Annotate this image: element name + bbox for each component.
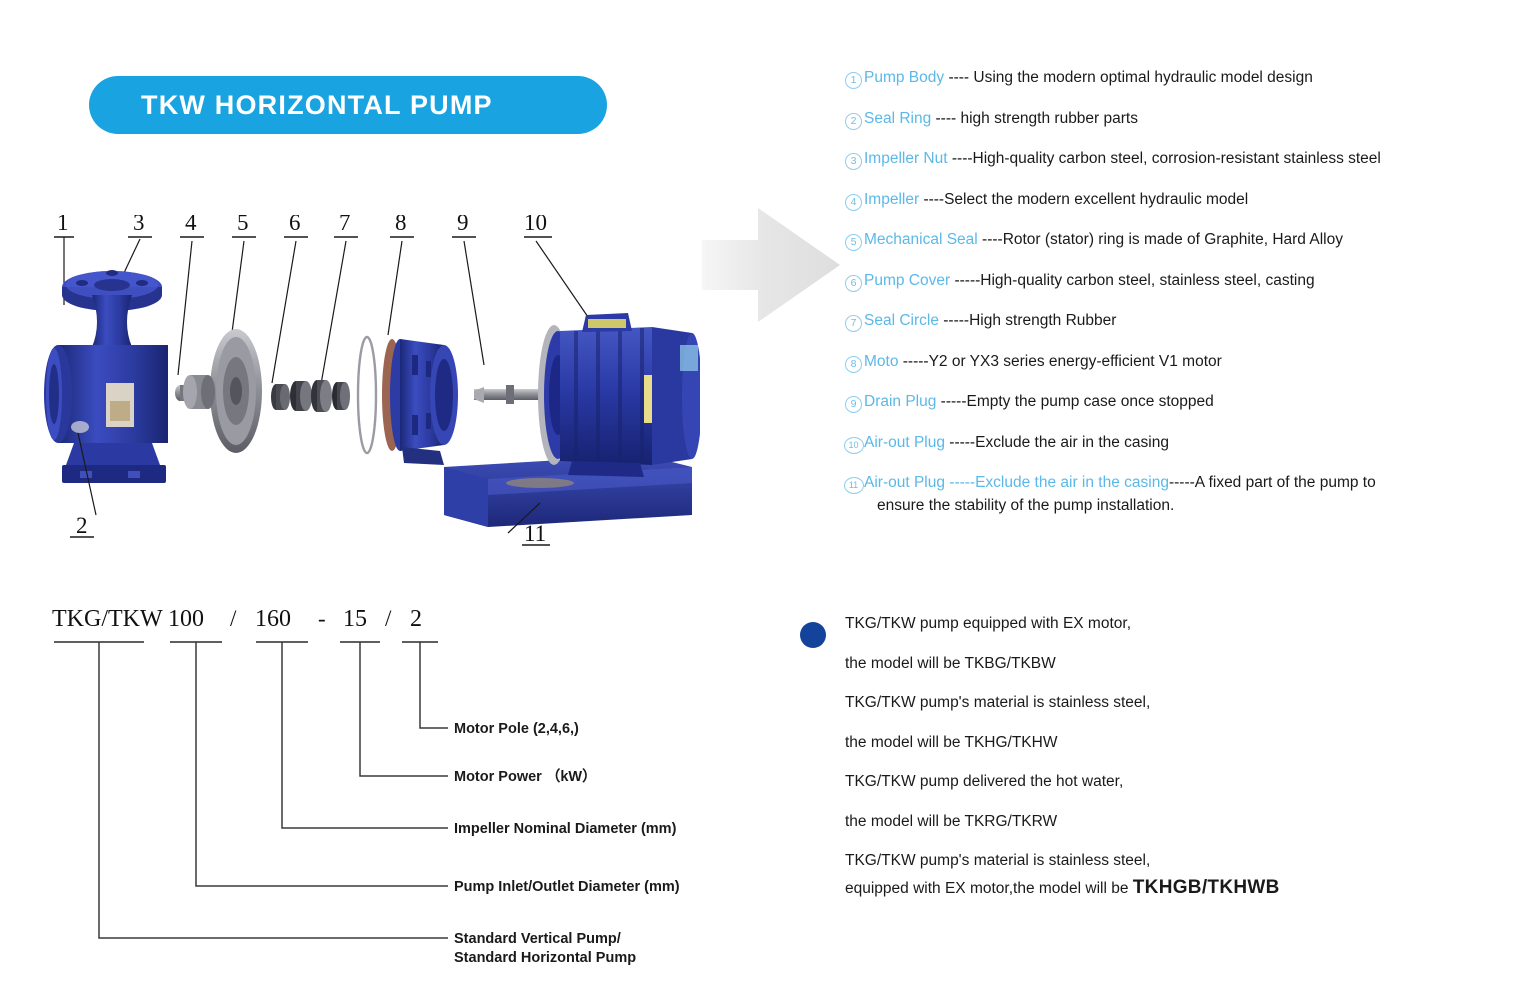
note-line: TKG/TKW pump equipped with EX motor,	[845, 615, 1420, 655]
bullet-icon	[800, 622, 826, 648]
model-code-breakdown: TKG/TKW 100 / 160 - 15 / 2 Motor Pole (2…	[40, 598, 740, 968]
legend-part-name: Air-out Plug	[864, 434, 945, 451]
legend-item-4: 4 Impeller ----Select the modern excelle…	[843, 190, 1503, 231]
legend-number-icon: 5	[843, 231, 864, 247]
callout-3: 3	[133, 215, 145, 235]
legend-part-name: Drain Plug	[864, 393, 936, 410]
right-arrow-icon	[700, 198, 845, 333]
legend-description: high strength rubber parts	[960, 110, 1138, 127]
exploded-pump-diagram: 1 3 4 5 6 7 8 9 10 2 11	[40, 215, 700, 565]
callout-8: 8	[395, 215, 407, 235]
legend-dash: -----	[945, 434, 975, 451]
legend-dash: ----	[978, 231, 1003, 248]
legend-item-5: 5 Mechanical Seal ----Rotor (stator) rin…	[843, 230, 1503, 271]
legend-item-2: 2 Seal Ring ---- high strength rubber pa…	[843, 109, 1503, 150]
legend-item-11: 11 Air-out Plug -----Exclude the air in …	[843, 473, 1503, 515]
legend-description: High strength Rubber	[969, 312, 1116, 329]
model-naming-notes: TKG/TKW pump equipped with EX motor, the…	[800, 615, 1420, 902]
note-line: the model will be TKHG/TKHW	[845, 734, 1420, 774]
legend-description: Exclude the air in the casing	[975, 434, 1169, 451]
model-segment-series: TKG/TKW	[52, 606, 163, 632]
callout-1: 1	[57, 215, 69, 235]
page-title-banner: TKW HORIZONTAL PUMP	[89, 76, 607, 134]
legend-item-1: 1 Pump Body ---- Using the modern optima…	[843, 68, 1503, 109]
legend-item-7: 7 Seal Circle -----High strength Rubber	[843, 311, 1503, 352]
callout-5: 5	[237, 215, 249, 235]
parts-legend-list: 1 Pump Body ---- Using the modern optima…	[843, 68, 1503, 515]
legend-item-10: 10 Air-out Plug -----Exclude the air in …	[843, 433, 1503, 474]
model-label-inlet-outlet-diameter: Pump Inlet/Outlet Diameter (mm)	[454, 879, 680, 895]
legend-dash: -----	[939, 312, 969, 329]
note-line-last: equipped with EX motor,the model will be…	[845, 877, 1420, 902]
legend-dash: ----	[919, 191, 944, 208]
model-label-motor-pole: Motor Pole (2,4,6,)	[454, 721, 579, 737]
legend-dash: ----	[931, 110, 960, 127]
model-segment-power: 15	[343, 606, 367, 632]
note-line: TKG/TKW pump's material is stainless ste…	[845, 694, 1420, 734]
model-label-motor-power: Motor Power （kW）	[454, 767, 597, 785]
model-label-standard-pump-line2: Standard Horizontal Pump	[454, 950, 636, 966]
legend-item-3: 3 Impeller Nut ----High-quality carbon s…	[843, 149, 1503, 190]
legend-description-continued: ensure the stability of the pump install…	[864, 496, 1503, 515]
callout-7: 7	[339, 215, 351, 235]
legend-part-name: Impeller	[864, 191, 919, 208]
legend-dash: -----	[936, 393, 966, 410]
legend-item-6: 6 Pump Cover -----High-quality carbon st…	[843, 271, 1503, 312]
legend-description: Select the modern excellent hydraulic mo…	[944, 191, 1248, 208]
legend-dash: -----	[950, 272, 980, 289]
legend-part-name: Seal Ring	[864, 110, 931, 127]
note-line: TKG/TKW pump's material is stainless ste…	[845, 852, 1420, 877]
legend-dash: -----	[898, 353, 928, 370]
legend-description: Rotor (stator) ring is made of Graphite,…	[1003, 231, 1343, 248]
callout-11: 11	[524, 521, 546, 546]
callout-6: 6	[289, 215, 301, 235]
legend-description: High-quality carbon steel, stainless ste…	[980, 272, 1314, 289]
note-line: TKG/TKW pump delivered the hot water,	[845, 773, 1420, 813]
legend-number-icon: 11	[843, 474, 864, 490]
model-segment-impeller: 160	[255, 606, 291, 632]
note-line: the model will be TKRG/TKRW	[845, 813, 1420, 853]
model-segment-inlet: 100	[168, 606, 204, 632]
legend-dash: ----	[948, 150, 973, 167]
legend-number-icon: 1	[843, 69, 864, 85]
legend-number-icon: 3	[843, 150, 864, 166]
model-label-impeller-diameter: Impeller Nominal Diameter (mm)	[454, 821, 677, 837]
legend-number-icon: 8	[843, 353, 864, 369]
legend-number-icon: 6	[843, 272, 864, 288]
legend-part-name: Seal Circle	[864, 312, 939, 329]
legend-part-name: Pump Body	[864, 69, 944, 86]
legend-number-icon: 4	[843, 191, 864, 207]
legend-item-8: 8 Moto -----Y2 or YX3 series energy-effi…	[843, 352, 1503, 393]
legend-number-icon: 7	[843, 312, 864, 328]
legend-part-name: Moto	[864, 353, 898, 370]
callout-4: 4	[185, 215, 197, 235]
legend-item-9: 9 Drain Plug -----Empty the pump case on…	[843, 392, 1503, 433]
model-separator-2: -	[318, 606, 326, 631]
model-separator-1: /	[230, 606, 237, 631]
model-segment-pole: 2	[410, 606, 422, 632]
note-last-model: TKHGB/TKHWB	[1133, 877, 1280, 898]
model-separator-3: /	[385, 606, 392, 631]
legend-number-icon: 10	[843, 434, 864, 450]
page-title: TKW HORIZONTAL PUMP	[89, 90, 493, 121]
legend-part-name: Pump Cover	[864, 272, 950, 289]
callout-10: 10	[524, 215, 547, 235]
legend-number-icon: 9	[843, 393, 864, 409]
legend-description: Empty the pump case once stopped	[967, 393, 1214, 410]
legend-description: High-quality carbon steel, corrosion-res…	[973, 150, 1381, 167]
legend-dash: ----	[944, 69, 973, 86]
legend-part-name: Air-out Plug -----Exclude the air in the…	[864, 474, 1169, 491]
callout-9: 9	[457, 215, 469, 235]
legend-part-name: Impeller Nut	[864, 150, 948, 167]
legend-part-name: Mechanical Seal	[864, 231, 978, 248]
legend-description: -----A fixed part of the pump to	[1169, 474, 1376, 491]
model-label-standard-pump-line1: Standard Vertical Pump/	[454, 931, 621, 947]
callout-2: 2	[76, 513, 88, 538]
note-last-prefix: equipped with EX motor,the model will be	[845, 880, 1133, 897]
legend-number-icon: 2	[843, 110, 864, 126]
note-line: the model will be TKBG/TKBW	[845, 655, 1420, 695]
legend-description: Y2 or YX3 series energy-efficient V1 mot…	[929, 353, 1222, 370]
legend-description: Using the modern optimal hydraulic model…	[973, 69, 1312, 86]
